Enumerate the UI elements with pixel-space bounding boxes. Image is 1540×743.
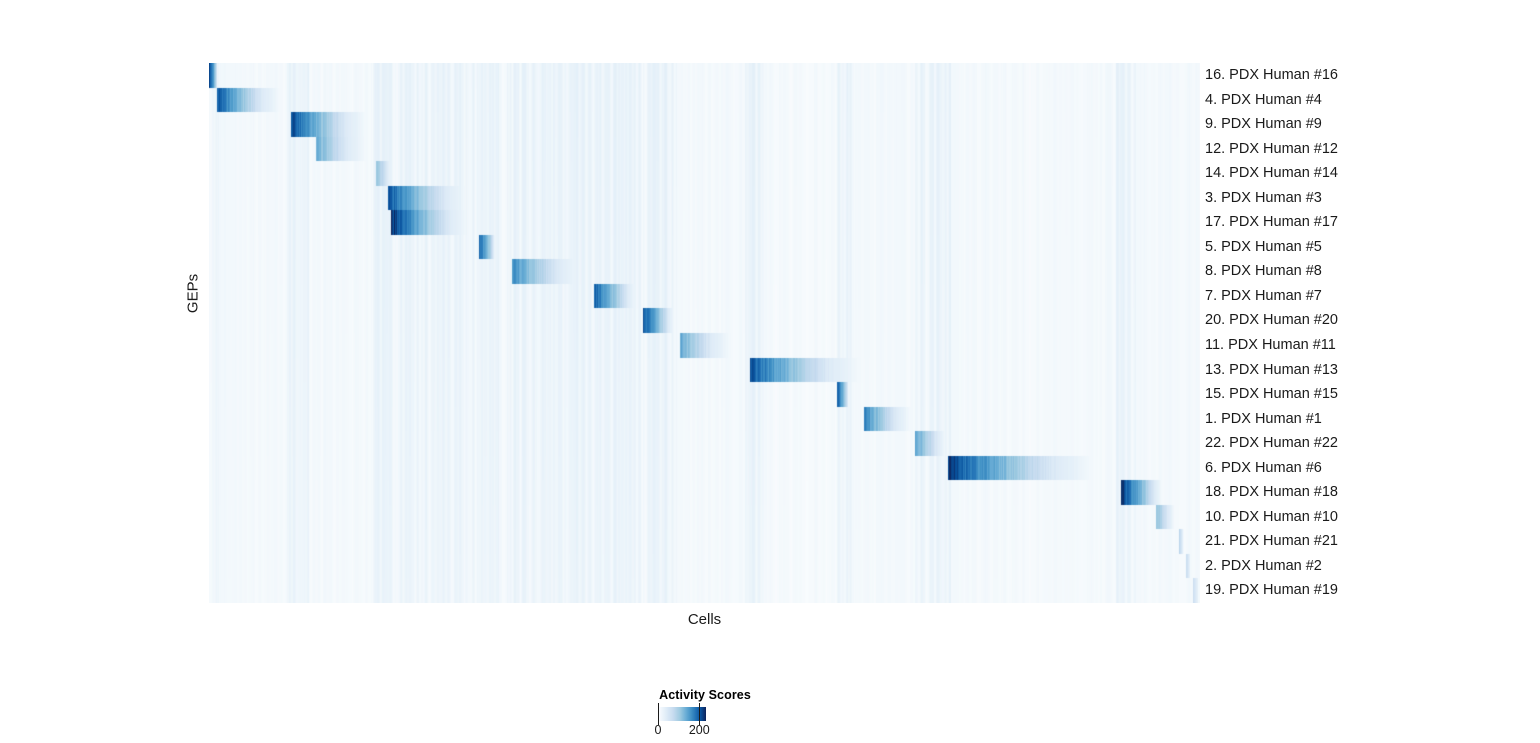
row-label: 5. PDX Human #5 xyxy=(1205,235,1322,260)
row-label: 9. PDX Human #9 xyxy=(1205,112,1322,137)
row-label: 12. PDX Human #12 xyxy=(1205,137,1338,162)
row-label: 2. PDX Human #2 xyxy=(1205,554,1322,579)
row-label: 8. PDX Human #8 xyxy=(1205,259,1322,284)
row-label: 4. PDX Human #4 xyxy=(1205,88,1322,113)
row-label-list: 16. PDX Human #164. PDX Human #49. PDX H… xyxy=(1205,63,1525,603)
row-label: 21. PDX Human #21 xyxy=(1205,529,1338,554)
y-axis-title: GEPs xyxy=(185,264,202,324)
row-label: 6. PDX Human #6 xyxy=(1205,456,1322,481)
heatmap-plot-area xyxy=(209,63,1200,603)
row-label: 17. PDX Human #17 xyxy=(1205,210,1338,235)
colorbar-legend: Activity Scores 0200 xyxy=(600,688,810,739)
row-label: 14. PDX Human #14 xyxy=(1205,161,1338,186)
colorbar-wrap: 0200 xyxy=(600,707,810,739)
row-label: 22. PDX Human #22 xyxy=(1205,431,1338,456)
colorbar-tick xyxy=(658,703,659,725)
row-label: 10. PDX Human #10 xyxy=(1205,505,1338,530)
row-label: 3. PDX Human #3 xyxy=(1205,186,1322,211)
row-label: 11. PDX Human #11 xyxy=(1205,333,1336,358)
row-label: 20. PDX Human #20 xyxy=(1205,308,1338,333)
colorbar-tick-label: 0 xyxy=(655,723,662,737)
row-label: 16. PDX Human #16 xyxy=(1205,63,1338,88)
row-label: 7. PDX Human #7 xyxy=(1205,284,1322,309)
row-label: 18. PDX Human #18 xyxy=(1205,480,1338,505)
row-label: 13. PDX Human #13 xyxy=(1205,358,1338,383)
colorbar-tick xyxy=(699,703,700,725)
colorbar-tick-label: 200 xyxy=(689,723,710,737)
legend-title: Activity Scores xyxy=(600,688,810,702)
row-label: 19. PDX Human #19 xyxy=(1205,578,1338,603)
row-label: 15. PDX Human #15 xyxy=(1205,382,1338,407)
heatmap-figure: GEPs Cells 16. PDX Human #164. PDX Human… xyxy=(0,0,1540,743)
row-label: 1. PDX Human #1 xyxy=(1205,407,1322,432)
x-axis-title: Cells xyxy=(209,611,1200,628)
heatmap-canvas xyxy=(209,63,1200,603)
